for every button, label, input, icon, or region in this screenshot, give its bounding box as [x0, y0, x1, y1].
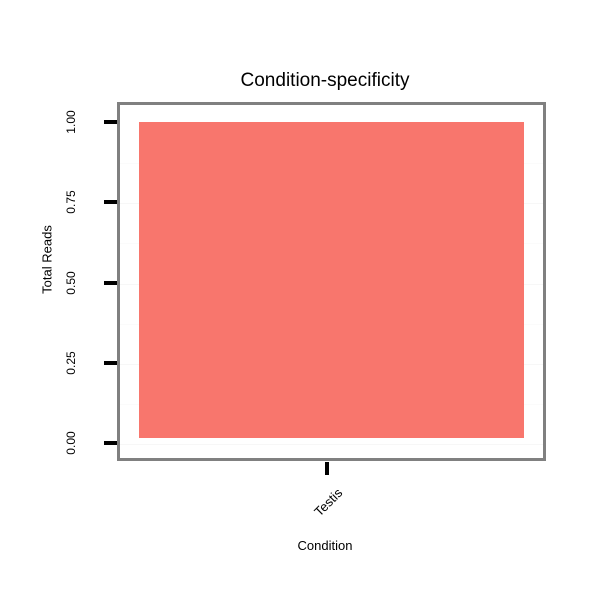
bar-testis[interactable]: [139, 122, 524, 438]
y-tick-mark-0.25: [104, 361, 117, 365]
y-axis-title: Total Reads: [40, 210, 55, 310]
y-tick-label-0.25: 0.25: [64, 333, 78, 393]
y-tick-label-0.00: 0.00: [64, 413, 78, 473]
y-tick-mark-0.75: [104, 200, 117, 204]
plot-panel: [117, 102, 546, 461]
y-tick-mark-0.00: [104, 441, 117, 445]
y-tick-mark-0.50: [104, 281, 117, 285]
y-tick-mark-1.00: [104, 120, 117, 124]
x-tick-mark-testis: [325, 462, 329, 475]
y-tick-label-0.50: 0.50: [64, 253, 78, 313]
chart-title: Condition-specificity: [0, 70, 600, 92]
y-tick-label-1.00: 1.00: [64, 92, 78, 152]
chart-canvas: Condition-specificity Total Reads 1.00 0…: [0, 0, 600, 600]
gridline-major-0.00: [120, 444, 543, 445]
y-tick-label-0.75: 0.75: [64, 172, 78, 232]
x-axis-title: Condition: [0, 538, 600, 553]
plot-panel-inner: [120, 105, 543, 458]
